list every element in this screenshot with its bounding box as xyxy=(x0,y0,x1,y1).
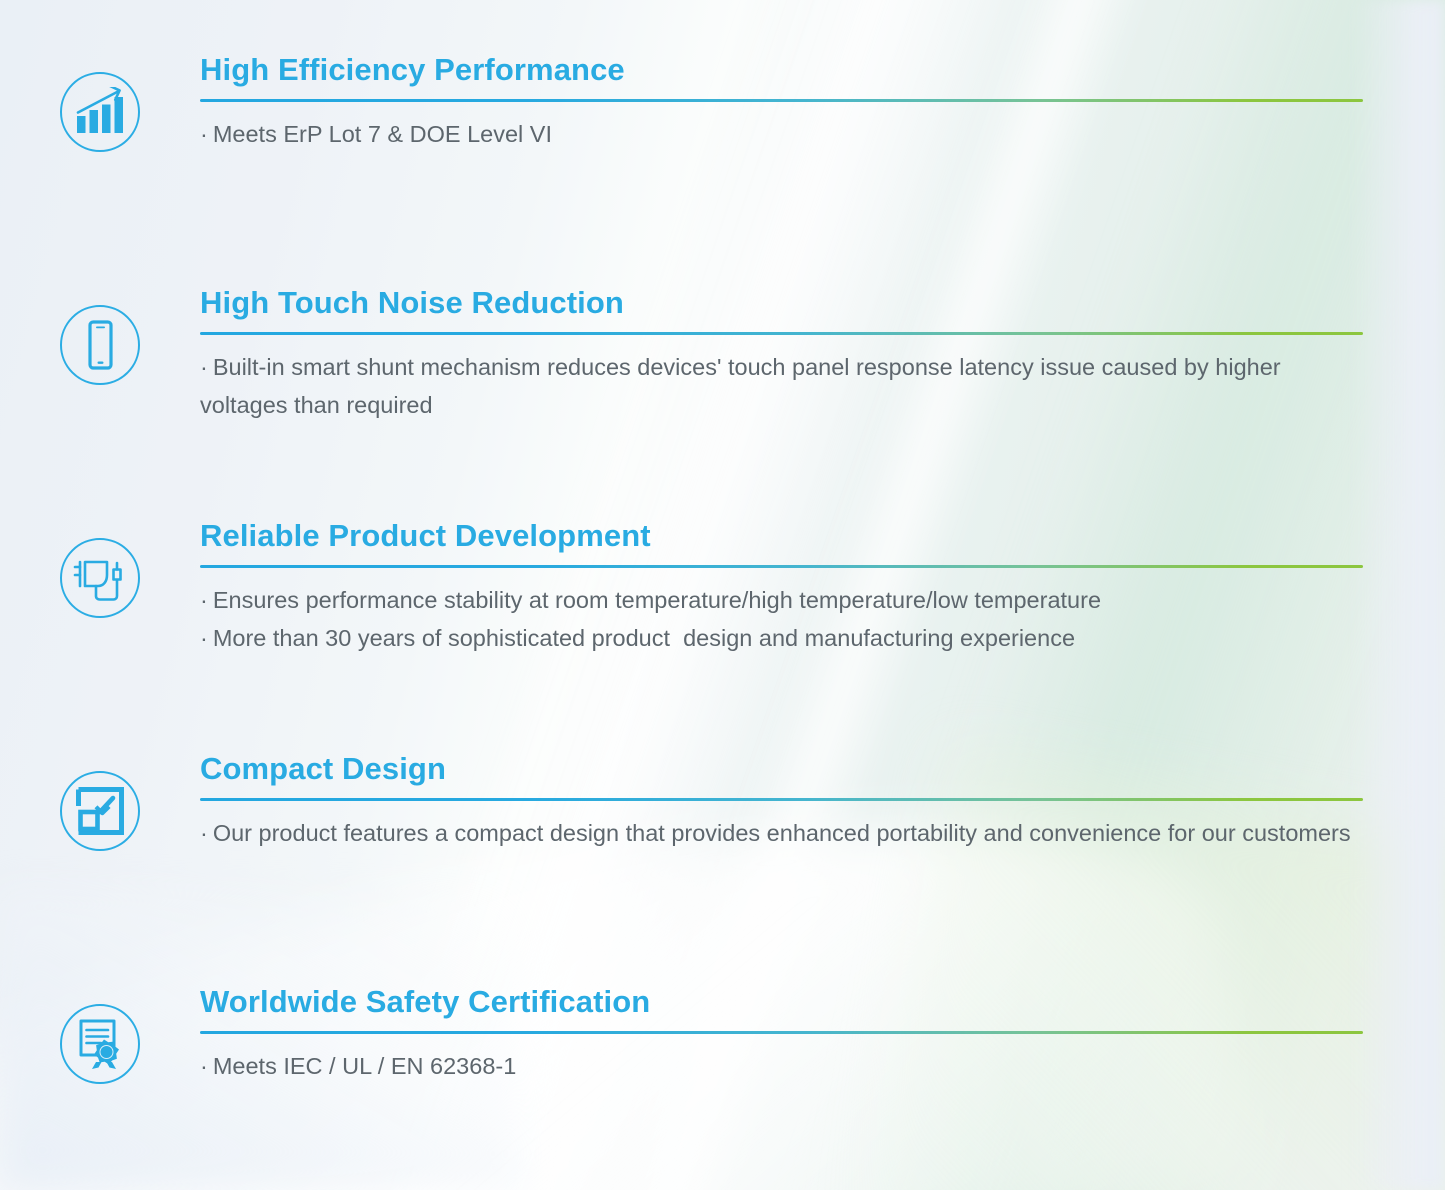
bullet-item: ·More than 30 years of sophisticated pro… xyxy=(200,619,1363,657)
feature-divider xyxy=(200,332,1363,335)
bullet-text: Meets IEC / UL / EN 62368-1 xyxy=(213,1053,516,1079)
feature-bullets: ·Ensures performance stability at room t… xyxy=(200,581,1363,657)
bullet-marker: · xyxy=(200,1053,208,1079)
feature-title: High Touch Noise Reduction xyxy=(200,285,1363,321)
bullet-item: ·Meets IEC / UL / EN 62368-1 xyxy=(200,1047,1363,1085)
certificate-seal-icon xyxy=(60,1004,140,1084)
bullet-marker: · xyxy=(200,820,208,846)
bullet-text: Built-in smart shunt mechanism reduces d… xyxy=(200,354,1287,418)
feature-row: Reliable Product Development ·Ensures pe… xyxy=(0,496,1445,729)
bullet-text: Ensures performance stability at room te… xyxy=(213,587,1101,613)
feature-title: Worldwide Safety Certification xyxy=(200,984,1363,1020)
feature-row: Worldwide Safety Certification ·Meets IE… xyxy=(0,962,1445,1190)
bullet-item: ·Built-in smart shunt mechanism reduces … xyxy=(200,348,1363,424)
power-adapter-icon xyxy=(60,538,140,618)
feature-icon-container xyxy=(0,263,200,385)
feature-content: Worldwide Safety Certification ·Meets IE… xyxy=(200,962,1445,1085)
feature-bullets: ·Our product features a compact design t… xyxy=(200,814,1363,852)
feature-icon-container xyxy=(0,729,200,851)
feature-content: Reliable Product Development ·Ensures pe… xyxy=(200,496,1445,657)
feature-divider xyxy=(200,99,1363,102)
feature-icon-container xyxy=(0,30,200,152)
feature-icon-container xyxy=(0,962,200,1084)
feature-icon-container xyxy=(0,496,200,618)
bullet-marker: · xyxy=(200,121,208,147)
feature-divider xyxy=(200,565,1363,568)
feature-title: High Efficiency Performance xyxy=(200,52,1363,88)
bullet-text: Meets ErP Lot 7 & DOE Level VI xyxy=(213,121,552,147)
feature-row: High Touch Noise Reduction ·Built-in sma… xyxy=(0,263,1445,496)
bullet-item: ·Meets ErP Lot 7 & DOE Level VI xyxy=(200,115,1363,153)
feature-divider xyxy=(200,1031,1363,1034)
bullet-item: ·Ensures performance stability at room t… xyxy=(200,581,1363,619)
feature-title: Reliable Product Development xyxy=(200,518,1363,554)
feature-row: High Efficiency Performance ·Meets ErP L… xyxy=(0,30,1445,263)
feature-bullets: ·Meets IEC / UL / EN 62368-1 xyxy=(200,1047,1363,1085)
feature-divider xyxy=(200,798,1363,801)
feature-bullets: ·Built-in smart shunt mechanism reduces … xyxy=(200,348,1363,424)
bar-chart-growth-icon xyxy=(60,72,140,152)
bullet-item: ·Our product features a compact design t… xyxy=(200,814,1363,852)
feature-content: High Touch Noise Reduction ·Built-in sma… xyxy=(200,263,1445,424)
feature-content: Compact Design ·Our product features a c… xyxy=(200,729,1445,852)
feature-title: Compact Design xyxy=(200,751,1363,787)
feature-bullets: ·Meets ErP Lot 7 & DOE Level VI xyxy=(200,115,1363,153)
feature-list: High Efficiency Performance ·Meets ErP L… xyxy=(0,0,1445,1190)
bullet-text: Our product features a compact design th… xyxy=(213,820,1351,846)
feature-highlights-page: High Efficiency Performance ·Meets ErP L… xyxy=(0,0,1445,1190)
bullet-marker: · xyxy=(200,587,208,613)
bullet-text: More than 30 years of sophisticated prod… xyxy=(213,625,1075,651)
feature-content: High Efficiency Performance ·Meets ErP L… xyxy=(200,30,1445,153)
smartphone-icon xyxy=(60,305,140,385)
bullet-marker: · xyxy=(200,625,208,651)
compact-resize-icon xyxy=(60,771,140,851)
feature-row: Compact Design ·Our product features a c… xyxy=(0,729,1445,962)
bullet-marker: · xyxy=(200,354,208,380)
